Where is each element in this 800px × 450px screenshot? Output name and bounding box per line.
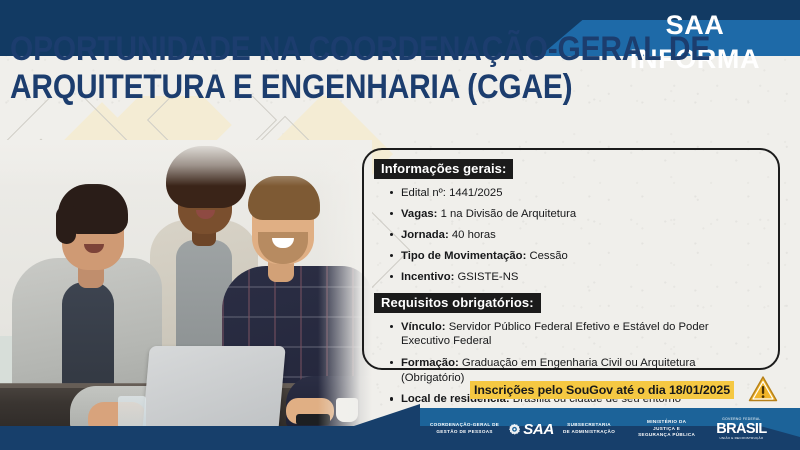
- list-item-label: Formação:: [401, 357, 462, 369]
- saa-logo: SAA: [508, 421, 554, 438]
- list-item: Vínculo: Servidor Público Federal Efetiv…: [390, 320, 760, 349]
- subsecretaria-administracao-logo: SUBSECRETARIA DE ADMINISTRAÇÃO: [563, 422, 615, 435]
- list-item: Tipo de Movimentação: Cessão: [390, 249, 760, 264]
- list-item: Jornada: 40 horas: [390, 228, 760, 243]
- footer-logo-strip: COORDENAÇÃO-GERAL DE GESTÃO DE PESSOAS S…: [430, 414, 798, 444]
- information-card: Informações gerais: Edital nº: 1441/2025…: [362, 148, 780, 370]
- list-item-value: 40 horas: [452, 229, 496, 241]
- list-item-label: Incentivo:: [401, 271, 458, 283]
- list-item-label: Vagas:: [401, 208, 441, 220]
- brasil-wordmark: BRASIL: [716, 422, 766, 437]
- saa-logo-text: SAA: [523, 421, 554, 438]
- page-title: OPORTUNIDADE NA COORDENAÇÃO-GERAL DE ARQ…: [10, 30, 503, 107]
- inscription-text: Inscrições pelo SouGov até o dia 18/01/2…: [470, 381, 734, 399]
- general-information-list: Edital nº: 1441/2025Vagas: 1 na Divisão …: [374, 186, 770, 285]
- list-item-value: GSISTE-NS: [458, 271, 519, 283]
- list-item-value: Cessão: [529, 250, 567, 262]
- list-item: Incentivo: GSISTE-NS: [390, 270, 760, 285]
- list-item: Vagas: 1 na Divisão de Arquitetura: [390, 207, 760, 222]
- warning-triangle-icon: [748, 375, 778, 403]
- three-colleagues-looking-at-laptop-photo: [0, 140, 372, 432]
- list-item-value: 1 na Divisão de Arquitetura: [441, 208, 577, 220]
- ministerio-justica-logo: MINISTÉRIO DA JUSTIÇA E SEGURANÇA PÚBLIC…: [638, 419, 695, 439]
- coordenacao-geral-gestao-pessoas-logo: COORDENAÇÃO-GERAL DE GESTÃO DE PESSOAS: [430, 422, 499, 435]
- inscription-notice: Inscrições pelo SouGov até o dia 18/01/2…: [470, 381, 734, 399]
- list-item-value: Edital nº: 1441/2025: [401, 187, 503, 199]
- governo-federal-brasil-logo: GOVERNO FEDERAL BRASIL UNIÃO E RECONSTRU…: [716, 418, 766, 441]
- page-title-line-2: ARQUITETURA E ENGENHARIA (CGAE): [10, 68, 503, 106]
- uniao-reconstrucao-label: UNIÃO E RECONSTRUÇÃO: [716, 437, 766, 440]
- list-item-label: Jornada:: [401, 229, 452, 241]
- list-item: Edital nº: 1441/2025: [390, 186, 760, 201]
- poster-canvas: SAA INFORMA OPORTUNIDADE NA COORDENAÇÃO-…: [0, 0, 800, 450]
- section-title-informacoes-gerais: Informações gerais:: [374, 159, 513, 179]
- section-title-requisitos-obrigatorios: Requisitos obrigatórios:: [374, 293, 541, 313]
- page-title-line-1: OPORTUNIDADE NA COORDENAÇÃO-GERAL DE: [10, 30, 503, 68]
- gear-icon: [508, 423, 521, 436]
- list-item-label: Tipo de Movimentação:: [401, 250, 529, 262]
- list-item-label: Vínculo:: [401, 321, 449, 333]
